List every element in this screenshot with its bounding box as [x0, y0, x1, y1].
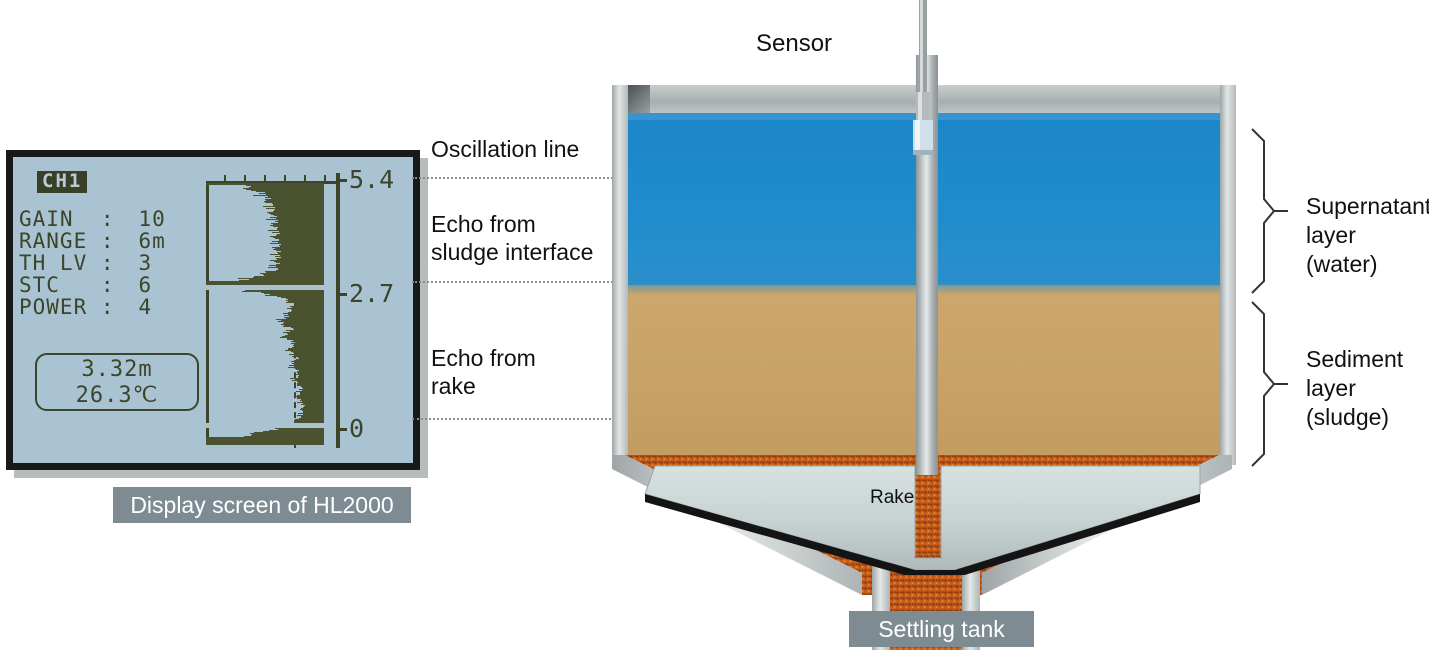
display-caption: Display screen of HL2000 — [113, 487, 411, 523]
callout-sludge-echo-line1: Echo from — [431, 210, 593, 238]
plot-tick — [304, 175, 306, 181]
wave-gap — [206, 423, 324, 428]
param-gain-row: GAIN :10 — [19, 209, 166, 230]
label-sediment-line1: Sediment — [1306, 345, 1403, 374]
sensor-probe[interactable] — [910, 0, 936, 175]
hl2000-display[interactable]: CH1 GAIN :10 RANGE :6m TH LV :3 STC :6 P… — [6, 150, 420, 470]
callout-sludge-echo: Echo from sludge interface — [431, 210, 593, 266]
reading-temperature: 26.3℃ — [37, 383, 197, 409]
channel-badge: CH1 — [37, 171, 87, 193]
scale-label-middle: 2.7 — [349, 281, 394, 306]
reading-box: 3.32m 26.3℃ — [35, 353, 199, 411]
lcd-screen: CH1 GAIN :10 RANGE :6m TH LV :3 STC :6 P… — [13, 157, 413, 463]
plot-tick — [244, 175, 246, 181]
tank-wall-right — [1220, 85, 1236, 465]
param-thlv-label: TH LV : — [19, 251, 115, 275]
scale-tick — [338, 179, 347, 182]
plot-axis-right — [336, 173, 340, 448]
label-supernatant-layer: Supernatant layer (water) — [1306, 192, 1429, 279]
param-gain-value: 10 — [115, 207, 166, 231]
param-power-label: POWER : — [19, 295, 115, 319]
param-range-label: RANGE : — [19, 229, 115, 253]
echo-waveform-plot — [206, 173, 340, 448]
param-range-value: 6m — [115, 229, 166, 253]
param-thlv-row: TH LV :3 — [19, 253, 152, 274]
leader-line-oscillation — [412, 177, 629, 179]
scale-tick — [338, 293, 347, 296]
plot-tick — [264, 175, 266, 181]
scale-label-bottom: 0 — [349, 416, 364, 441]
label-supernatant-line2: layer — [1306, 221, 1429, 250]
settling-tank-illustration: Rake — [600, 55, 1260, 595]
tank-caption: Settling tank — [849, 611, 1034, 647]
label-supernatant-line1: Supernatant — [1306, 192, 1429, 221]
param-gain-label: GAIN : — [19, 207, 115, 231]
sensor-label: Sensor — [756, 30, 832, 58]
layer-brackets — [1248, 125, 1288, 470]
param-stc-row: STC :6 — [19, 275, 152, 296]
label-sediment-line2: layer — [1306, 374, 1403, 403]
callout-oscillation-line: Oscillation line — [431, 135, 579, 163]
param-power-value: 4 — [115, 295, 153, 319]
param-thlv-value: 3 — [115, 251, 153, 275]
param-stc-value: 6 — [115, 273, 153, 297]
reading-distance: 3.32m — [37, 357, 197, 383]
rake-label: Rake — [870, 487, 914, 509]
param-range-row: RANGE :6m — [19, 231, 166, 252]
scale-label-top: 5.4 — [349, 167, 394, 192]
echo-scanline — [206, 444, 324, 445]
param-stc-label: STC : — [19, 273, 115, 297]
callout-rake-echo: Echo from rake — [431, 344, 536, 400]
label-supernatant-line3: (water) — [1306, 250, 1429, 279]
plot-tick — [324, 175, 326, 181]
plot-tick — [224, 175, 226, 181]
wave-gap — [206, 285, 324, 290]
param-power-row: POWER :4 — [19, 297, 152, 318]
scale-tick — [338, 428, 347, 431]
tank-wall-left — [612, 85, 628, 465]
label-sediment-line3: (sludge) — [1306, 403, 1403, 432]
plot-tick — [284, 175, 286, 181]
callout-sludge-echo-line2: sludge interface — [431, 238, 593, 266]
callout-rake-echo-line1: Echo from — [431, 344, 536, 372]
callout-rake-echo-line2: rake — [431, 372, 536, 400]
label-sediment-layer: Sediment layer (sludge) — [1306, 345, 1403, 432]
